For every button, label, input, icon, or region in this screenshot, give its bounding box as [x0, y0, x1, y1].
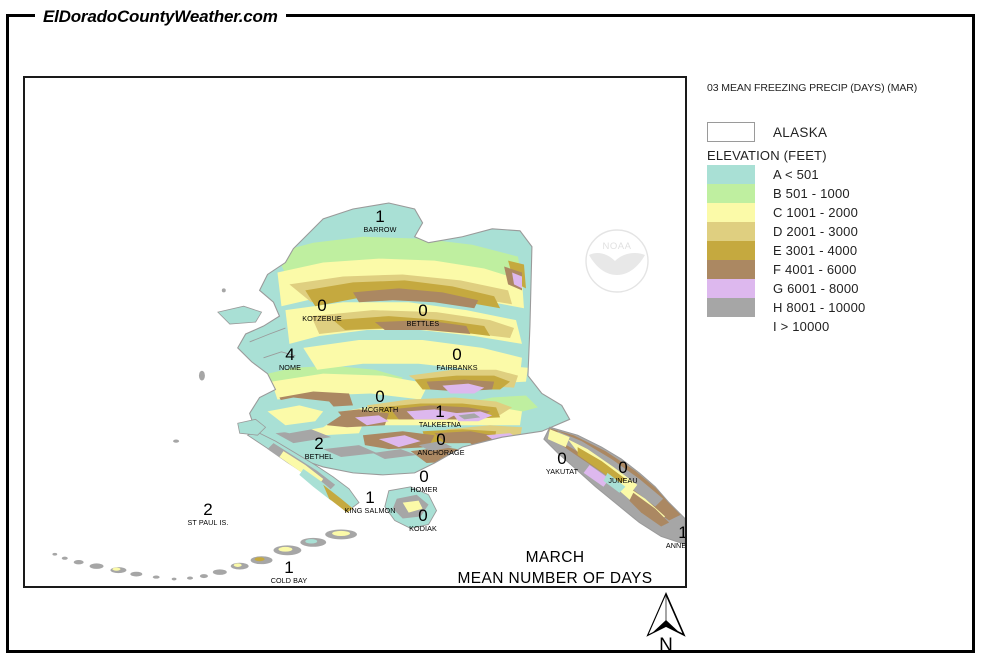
- legend-elevation-header: ELEVATION (FEET): [707, 148, 967, 163]
- legend-row-b: B 501 - 1000: [707, 184, 967, 203]
- site-title-container: ElDoradoCountyWeather.com: [35, 4, 286, 30]
- caption-line-2: MEAN NUMBER OF DAYS: [405, 569, 687, 588]
- legend-label-i: I > 10000: [773, 319, 829, 334]
- compass-label: N: [638, 636, 694, 655]
- legend-swatch-e: [707, 241, 755, 260]
- legend-label-a: A < 501: [773, 167, 819, 182]
- legend-label-h: H 8001 - 10000: [773, 300, 865, 315]
- legend-swatch-a: [707, 165, 755, 184]
- legend-label-d: D 2001 - 3000: [773, 224, 858, 239]
- map-panel[interactable]: NOAA MARCH MEAN NUMBER OF DAYS WITH FREE…: [23, 76, 687, 588]
- legend-swatch-d: [707, 222, 755, 241]
- legend-panel: 03 MEAN FREEZING PRECIP (DAYS) (MAR) ALA…: [707, 82, 967, 336]
- legend-boundary-label: ALASKA: [773, 125, 827, 140]
- legend-row-d: D 2001 - 3000: [707, 222, 967, 241]
- legend-row-f: F 4001 - 6000: [707, 260, 967, 279]
- legend-boundary-swatch: [707, 122, 755, 142]
- legend-swatch-c: [707, 203, 755, 222]
- legend-row-h: H 8001 - 10000: [707, 298, 967, 317]
- legend-row-g: G 6001 - 8000: [707, 279, 967, 298]
- legend-swatch-h: [707, 298, 755, 317]
- legend-swatch-f: [707, 260, 755, 279]
- legend-row-e: E 3001 - 4000: [707, 241, 967, 260]
- site-title: ElDoradoCountyWeather.com: [43, 7, 278, 27]
- screenshot-canvas: ElDoradoCountyWeather.com: [0, 0, 981, 659]
- legend-boundary-row: ALASKA: [707, 122, 967, 142]
- map-caption: MARCH MEAN NUMBER OF DAYS WITH FREEZING …: [405, 548, 687, 588]
- legend-label-b: B 501 - 1000: [773, 186, 850, 201]
- compass-rose: N: [638, 592, 694, 654]
- legend-swatch-i: [707, 317, 755, 336]
- legend-row-a: A < 501: [707, 165, 967, 184]
- caption-line-1: MARCH: [405, 548, 687, 569]
- legend-row-i: I > 10000: [707, 317, 967, 336]
- legend-label-e: E 3001 - 4000: [773, 243, 857, 258]
- legend-swatch-b: [707, 184, 755, 203]
- alaska-elevation-map: [25, 78, 685, 586]
- legend-label-c: C 1001 - 2000: [773, 205, 858, 220]
- legend-label-f: F 4001 - 6000: [773, 262, 857, 277]
- legend-label-g: G 6001 - 8000: [773, 281, 859, 296]
- legend-swatch-g: [707, 279, 755, 298]
- legend-row-c: C 1001 - 2000: [707, 203, 967, 222]
- north-arrow-icon: [638, 592, 694, 638]
- legend-title: 03 MEAN FREEZING PRECIP (DAYS) (MAR): [707, 82, 967, 94]
